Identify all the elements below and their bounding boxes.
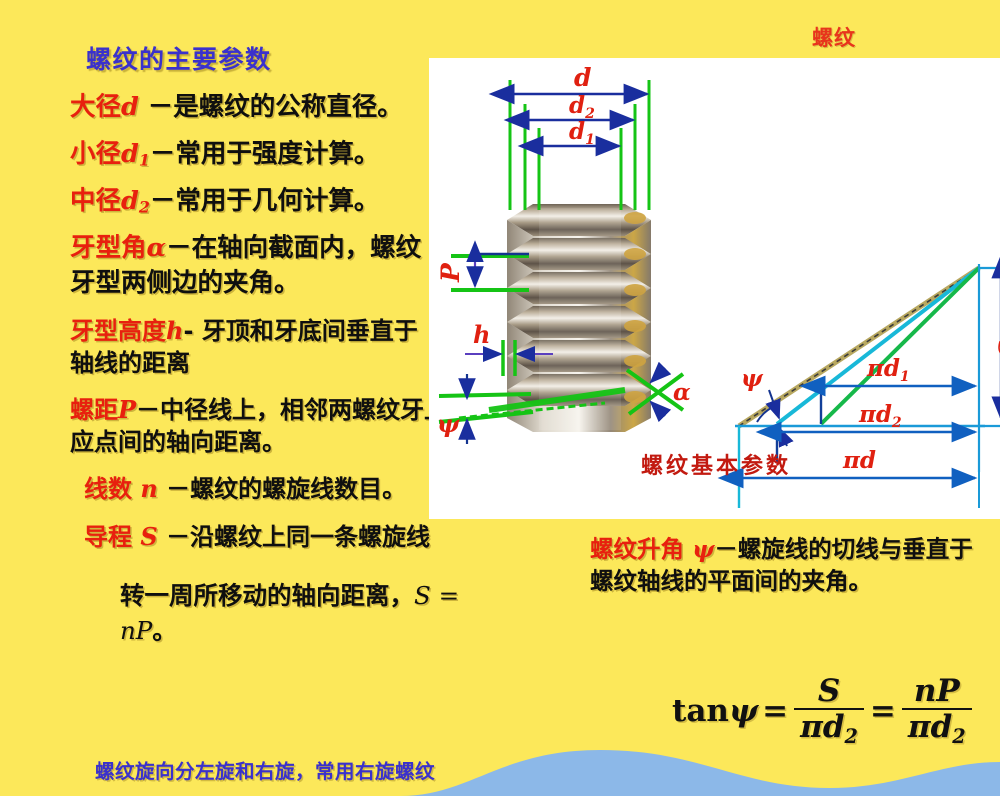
param-term: 大径 bbox=[70, 92, 121, 122]
param-desc: －常用于几何计算。 bbox=[150, 186, 380, 216]
param-symbol: α bbox=[147, 233, 167, 263]
param-term: 牙型高度 bbox=[70, 317, 166, 345]
label-minor-diameter: d1 bbox=[569, 118, 595, 148]
label-thread-angle: α bbox=[673, 379, 691, 406]
param-term: 小径 bbox=[70, 139, 121, 169]
figure-panel: d d2 d1 P h bbox=[429, 58, 1000, 519]
param-symbol: h bbox=[166, 316, 183, 345]
label-pi-d2: πd2 bbox=[858, 401, 902, 431]
label-major-diameter: d bbox=[574, 63, 591, 92]
slide-canvas: 螺纹 螺纹的主要参数 大径d －是螺纹的公称直径。 小径d1－常用于强度计算。 … bbox=[0, 0, 1000, 796]
formula-equals-2: = bbox=[870, 693, 896, 729]
d-subscript: 2 bbox=[952, 725, 965, 748]
page-title: 螺纹的主要参数 bbox=[86, 40, 272, 76]
formula-fraction-2: nP πd2 bbox=[902, 676, 972, 746]
param-term: 导程 bbox=[84, 523, 132, 551]
figure-caption: 螺纹基本参数 bbox=[571, 448, 861, 480]
param-symbol-sub: 2 bbox=[139, 198, 150, 217]
formula-fraction-1: S πd2 bbox=[794, 676, 864, 746]
param-symbol: P bbox=[118, 395, 136, 424]
n-symbol: n bbox=[914, 673, 937, 709]
formula-frac2-denominator: πd2 bbox=[902, 708, 972, 746]
lead-equation-period: 。 bbox=[152, 616, 177, 645]
formula-psi: ψ bbox=[729, 693, 758, 729]
formula-tan: tan bbox=[672, 693, 729, 729]
param-term: 螺距 bbox=[70, 396, 118, 424]
param-desc: －是螺纹的公称直径。 bbox=[148, 92, 403, 122]
label-pi-d1: πd1 bbox=[866, 355, 910, 385]
label-lead-angle: ψ bbox=[437, 409, 461, 438]
param-desc: －沿螺纹上同一条螺旋线 bbox=[166, 523, 430, 551]
pi-symbol: π bbox=[908, 709, 931, 745]
param-symbol: n bbox=[140, 474, 157, 503]
formula-frac2-numerator: nP bbox=[904, 676, 970, 708]
corner-title: 螺纹 bbox=[812, 22, 856, 52]
footnote-handedness: 螺纹旋向分左旋和右旋，常用右旋螺纹 bbox=[95, 755, 435, 784]
d-symbol: d bbox=[823, 709, 845, 745]
lead-angle-note-line: 螺纹升角 ψ－螺旋线的切线与垂直于螺纹轴线的平面间的夹角。 bbox=[590, 533, 990, 598]
param-desc: －常用于强度计算。 bbox=[150, 139, 380, 169]
label-tooth-height: h bbox=[473, 320, 490, 349]
lead-equation-line: 转一周所移动的轴向距离，S = nP。 bbox=[70, 577, 520, 647]
lead-angle-term: 螺纹升角 bbox=[590, 535, 684, 563]
param-term: 中径 bbox=[70, 186, 121, 216]
d-subscript: 2 bbox=[845, 725, 858, 748]
param-symbol: d bbox=[121, 186, 139, 216]
formula-frac1-denominator: πd2 bbox=[794, 708, 864, 746]
lead-angle-note: 螺纹升角 ψ－螺旋线的切线与垂直于螺纹轴线的平面间的夹角。 bbox=[590, 533, 990, 598]
param-thread-angle: 牙型角α－在轴向截面内，螺纹牙型两侧边的夹角。 bbox=[70, 231, 422, 299]
lead-equation-text: 转一周所移动的轴向距离， bbox=[120, 581, 414, 610]
screw-dimension-lines: d d2 d1 bbox=[510, 63, 649, 210]
param-tooth-height: 牙型高度h- 牙顶和牙底间垂直于轴线的距离 bbox=[70, 315, 440, 379]
label-helix-angle: ψ bbox=[741, 365, 764, 392]
param-desc: －螺纹的螺旋线数目。 bbox=[166, 475, 406, 503]
p-symbol: P bbox=[936, 673, 959, 709]
pi-symbol: π bbox=[800, 709, 823, 745]
d-symbol: d bbox=[931, 709, 953, 745]
param-symbol: S bbox=[140, 522, 157, 551]
lead-angle-formula: tanψ = S πd2 = nP πd2 bbox=[672, 676, 974, 746]
param-term: 线数 bbox=[84, 475, 132, 503]
param-symbol-sub: 1 bbox=[139, 151, 150, 170]
param-symbol: d bbox=[121, 92, 139, 122]
label-pitch: P bbox=[436, 262, 465, 283]
param-lead: 导程 S －沿螺纹上同一条螺旋线 bbox=[70, 521, 520, 553]
param-pitch: 螺距P－中径线上，相邻两螺纹牙上对应点间的轴向距离。 bbox=[70, 394, 490, 458]
param-symbol: d bbox=[121, 139, 139, 169]
formula-equals-1: = bbox=[762, 693, 788, 729]
label-lead-S: S bbox=[994, 340, 1000, 358]
lead-angle-symbol: ψ bbox=[692, 535, 714, 563]
formula-frac1-numerator: S bbox=[808, 676, 850, 708]
param-term: 牙型角 bbox=[70, 233, 147, 263]
